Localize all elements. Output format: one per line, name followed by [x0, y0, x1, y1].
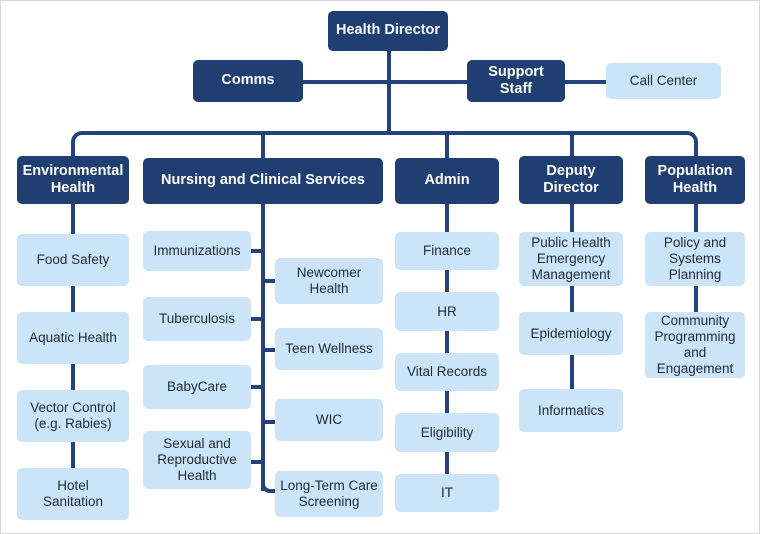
node-finance[interactable]: Finance — [395, 232, 499, 270]
connector-comms — [303, 80, 391, 84]
connector-division-bus — [71, 131, 698, 157]
connector-admin-1 — [445, 204, 449, 232]
connector-deputy-3 — [570, 355, 574, 389]
node-it[interactable]: IT — [395, 474, 499, 512]
node-babycare[interactable]: BabyCare — [143, 365, 251, 409]
node-teen-wellness[interactable]: Teen Wellness — [275, 328, 383, 370]
node-public-health-emergency-management[interactable]: Public Health Emergency Management — [519, 232, 623, 286]
connector-env-2 — [71, 286, 75, 312]
node-comms[interactable]: Comms — [193, 60, 303, 102]
node-hr[interactable]: HR — [395, 292, 499, 331]
connector-population-1 — [694, 204, 698, 232]
node-sexual-and-reproductive-health[interactable]: Sexual and Reproductive Health — [143, 431, 251, 489]
node-food-safety[interactable]: Food Safety — [17, 234, 129, 286]
node-division-admin[interactable]: Admin — [395, 158, 499, 204]
connector-admin-5 — [445, 452, 449, 474]
node-vital-records[interactable]: Vital Records — [395, 353, 499, 391]
node-hotel-sanitation[interactable]: Hotel Sanitation — [17, 468, 129, 520]
connector-support-staff — [387, 80, 469, 84]
connector-nursing-left-2 — [250, 317, 263, 321]
node-long-term-care-screening[interactable]: Long-Term Care Screening — [275, 471, 383, 517]
node-epidemiology[interactable]: Epidemiology — [519, 312, 623, 355]
node-division-deputy-director[interactable]: Deputy Director — [519, 156, 623, 204]
connector-nursing-left-1 — [250, 249, 263, 253]
node-policy-and-systems-planning[interactable]: Policy and Systems Planning — [645, 232, 745, 286]
node-newcomer-health[interactable]: Newcomer Health — [275, 258, 383, 304]
connector-deputy-1 — [570, 204, 574, 232]
connector-nursing-right-4 — [261, 471, 276, 493]
connector-admin-2 — [445, 270, 449, 292]
connector-population-2 — [694, 286, 698, 312]
node-tuberculosis[interactable]: Tuberculosis — [143, 297, 251, 341]
connector-support-staff-call-center — [565, 80, 607, 84]
node-health-director[interactable]: Health Director — [328, 11, 448, 51]
node-eligibility[interactable]: Eligibility — [395, 413, 499, 452]
node-division-population-health[interactable]: Population Health — [645, 156, 745, 204]
connector-deputy-2 — [570, 286, 574, 312]
node-call-center[interactable]: Call Center — [606, 63, 721, 99]
node-wic[interactable]: WIC — [275, 399, 383, 441]
node-division-nursing-and-clinical-services[interactable]: Nursing and Clinical Services — [143, 158, 383, 204]
node-aquatic-health[interactable]: Aquatic Health — [17, 312, 129, 364]
node-immunizations[interactable]: Immunizations — [143, 231, 251, 271]
connector-admin-3 — [445, 331, 449, 353]
connector-env-3 — [71, 364, 75, 390]
connector-env-1 — [71, 204, 75, 234]
node-support-staff[interactable]: Support Staff — [467, 60, 565, 102]
connector-env-4 — [71, 442, 75, 468]
connector-admin-4 — [445, 391, 449, 413]
node-community-programming-and-engagement[interactable]: Community Programming and Engagement — [645, 312, 745, 378]
connector-root-to-bus — [387, 49, 391, 133]
node-division-environmental-health[interactable]: Environmental Health — [17, 156, 129, 204]
connector-nursing-left-4 — [250, 460, 263, 464]
node-informatics[interactable]: Informatics — [519, 389, 623, 432]
org-chart: Health Director Comms Support Staff Call… — [0, 0, 760, 534]
node-vector-control[interactable]: Vector Control (e.g. Rabies) — [17, 390, 129, 442]
connector-nursing-left-3 — [250, 385, 263, 389]
